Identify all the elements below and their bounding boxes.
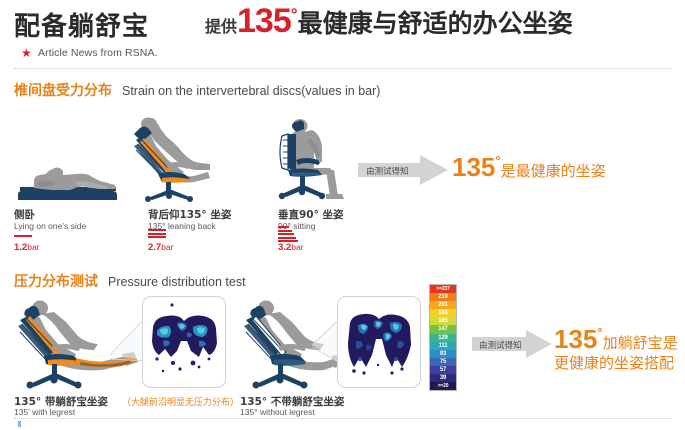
item1-label-en: Lying on one's side — [14, 221, 86, 231]
item1-label-cn: 侧卧 — [14, 207, 35, 222]
headline-suffix: 最健康与舒适的办公坐姿 — [298, 9, 573, 38]
legend-row: >=237 — [430, 285, 456, 293]
item4-label-en: 135' with legrest — [14, 407, 75, 417]
section1-result-text: 是最健康的坐姿 — [501, 162, 606, 180]
section2-heading: 压力分布测试Pressure distribution test — [14, 271, 246, 291]
headline-group: 提供135°最健康与舒适的办公坐姿 — [205, 2, 573, 41]
item1-bar-indicator — [14, 235, 32, 239]
section2-arrow-label: 由测试得知 — [479, 339, 522, 351]
legend-row: >=20 — [430, 382, 456, 390]
item2-value: 2.7bar — [148, 242, 174, 253]
headline-prefix: 提供 — [205, 17, 237, 36]
section1-result-degree-icon: ° — [495, 153, 500, 168]
section1-result-number: 135 — [452, 152, 495, 182]
infographic-page: 配备躺舒宝 提供135°最健康与舒适的办公坐姿 ★ Article News f… — [0, 0, 685, 430]
legend-row: 111 — [430, 342, 456, 350]
headline-degree-number: 135 — [237, 2, 291, 40]
section2-title-cn: 压力分布测试 — [14, 274, 98, 290]
page-title: 配备躺舒宝 — [14, 6, 149, 43]
degree-symbol-icon: ° — [291, 5, 298, 24]
section2-result-text: 加躺舒宝是 — [603, 334, 678, 352]
legend-row: 219 — [430, 293, 456, 301]
section2-title-en: Pressure distribution test — [108, 275, 246, 289]
item3-bar-indicator — [278, 226, 298, 244]
legend-row: 57 — [430, 366, 456, 374]
section2-result: 135°加躺舒宝是 — [554, 324, 678, 355]
legend-row: 39 — [430, 374, 456, 382]
item1-value: 1.2bar — [14, 242, 40, 253]
item5-label-en: 135° without legrest — [240, 407, 315, 417]
section1-arrow-label: 由测试得知 — [366, 165, 409, 177]
legend-row: 201 — [430, 301, 456, 309]
illustration-chair-135 — [110, 112, 222, 202]
illustration-chair-90 — [252, 112, 364, 202]
pressure-card-with-legrest — [142, 296, 226, 388]
section2-result-line2: 更健康的坐姿搭配 — [554, 352, 674, 373]
header-divider — [14, 68, 672, 69]
footer-marker-icon — [18, 421, 21, 427]
section1-title-en: Strain on the intervertebral discs(value… — [122, 84, 380, 98]
illustration-lying-on-side — [12, 150, 124, 210]
section1-result: 135°是最健康的坐姿 — [452, 152, 606, 183]
legend-row: 129 — [430, 334, 456, 342]
pressure-map-without-legrest — [338, 297, 420, 387]
legend-row: 165 — [430, 317, 456, 325]
legend-row: 75 — [430, 358, 456, 366]
item2-bar-indicator — [148, 229, 166, 240]
item4-note-cn: （大腿前沿明显无压力分布） — [122, 395, 239, 408]
page-header: 配备躺舒宝 提供135°最健康与舒适的办公坐姿 ★ Article News f… — [0, 0, 685, 72]
item3-value: 3.2bar — [278, 242, 304, 253]
pressure-card-without-legrest — [337, 296, 421, 388]
section1-heading: 椎间盘受力分布Strain on the intervertebral disc… — [14, 80, 380, 100]
footer-divider — [14, 418, 672, 419]
legend-row: 183 — [430, 309, 456, 317]
item3-label-cn: 垂直90° 坐姿 — [278, 207, 344, 222]
star-icon: ★ — [21, 47, 32, 59]
section1-title-cn: 椎间盘受力分布 — [14, 83, 112, 99]
section2-result-degree-icon: ° — [597, 325, 602, 340]
item2-label-cn: 背后仰135° 坐姿 — [148, 207, 231, 222]
legend-row: 93 — [430, 350, 456, 358]
legend-row: 147 — [430, 325, 456, 333]
page-subtitle: Article News from RSNA. — [38, 47, 158, 59]
pressure-map-with-legrest — [143, 297, 225, 387]
pressure-legend: >=23721920118316514712911193755739>=20 — [429, 284, 457, 391]
section2-result-number: 135 — [554, 324, 597, 354]
